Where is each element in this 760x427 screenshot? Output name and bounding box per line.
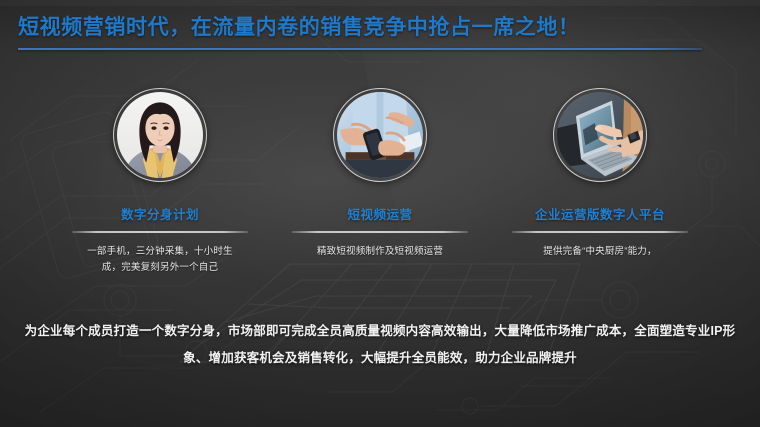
feature-card-title: 企业运营版数字人平台 — [535, 204, 665, 223]
avatar — [553, 88, 647, 182]
portrait-woman-photo-icon — [117, 92, 203, 178]
feature-card-divider — [72, 231, 248, 233]
slide-header: 短视频营销时代，在流量内卷的销售竞争中抢占一席之地！ — [18, 14, 718, 50]
feature-card: 短视频运营 精致短视频制作及短视频运营 — [274, 88, 486, 276]
slide-title: 短视频营销时代，在流量内卷的销售竞争中抢占一席之地！ — [18, 14, 718, 42]
feature-card: 企业运营版数字人平台 提供完备“中央厨房”能力， — [494, 88, 706, 276]
feature-card-title: 短视频运营 — [347, 204, 412, 223]
presentation-slide: 短视频营销时代，在流量内卷的销售竞争中抢占一席之地！ — [0, 0, 760, 427]
feature-card-divider — [292, 231, 468, 233]
title-underline — [18, 48, 702, 50]
hands-smartphone-photo-icon — [337, 92, 423, 178]
summary-paragraph: 为企业每个成员打造一个数字分身，市场部即可完成全员高质量视频内容高效输出，大量降… — [0, 318, 760, 372]
feature-card-title: 数字分身计划 — [121, 204, 199, 223]
avatar — [333, 88, 427, 182]
feature-card-divider — [512, 231, 688, 233]
hand-laptop-photo-icon — [557, 92, 643, 178]
feature-card-row: 数字分身计划 一部手机，三分钟采集，十小时生成，完美复刻另外一个自己 — [0, 88, 760, 276]
feature-card: 数字分身计划 一部手机，三分钟采集，十小时生成，完美复刻另外一个自己 — [54, 88, 266, 276]
avatar — [113, 88, 207, 182]
feature-card-description: 精致短视频制作及短视频运营 — [280, 244, 480, 260]
feature-card-description: 一部手机，三分钟采集，十小时生成，完美复刻另外一个自己 — [79, 244, 241, 276]
feature-card-description: 提供完备“中央厨房”能力， — [500, 244, 700, 260]
